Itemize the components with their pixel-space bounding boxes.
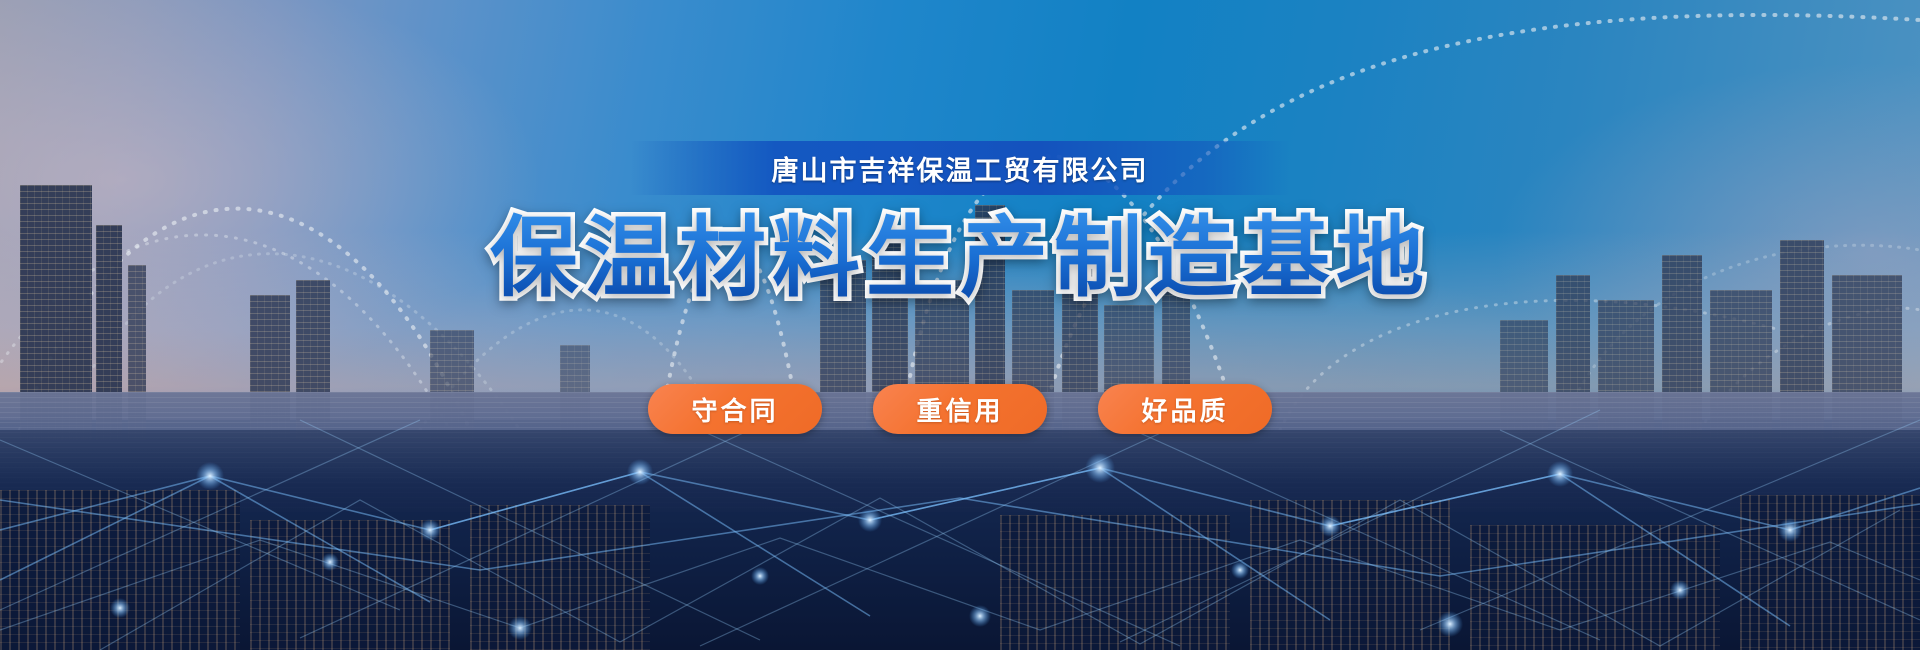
feature-pills: 守合同 重信用 好品质	[0, 383, 1920, 435]
pill-zhong-xin-yong[interactable]: 重信用	[873, 384, 1047, 434]
pill-label: 守合同	[691, 391, 778, 428]
company-name-text: 唐山市吉祥保温工贸有限公司	[772, 149, 1149, 188]
pill-hao-pin-zhi[interactable]: 好品质	[1098, 384, 1272, 434]
hero-banner: .dot{fill:none;stroke:#e9eef2;stroke-opa…	[0, 0, 1920, 650]
pill-label: 重信用	[916, 391, 1003, 428]
pill-shou-he-tong[interactable]: 守合同	[648, 384, 822, 434]
headline-container: 保温材料生产制造基地 保温材料生产制造基地	[0, 195, 1920, 305]
headline-text: 保温材料生产制造基地	[490, 187, 1430, 314]
pill-label: 好品质	[1141, 391, 1228, 428]
